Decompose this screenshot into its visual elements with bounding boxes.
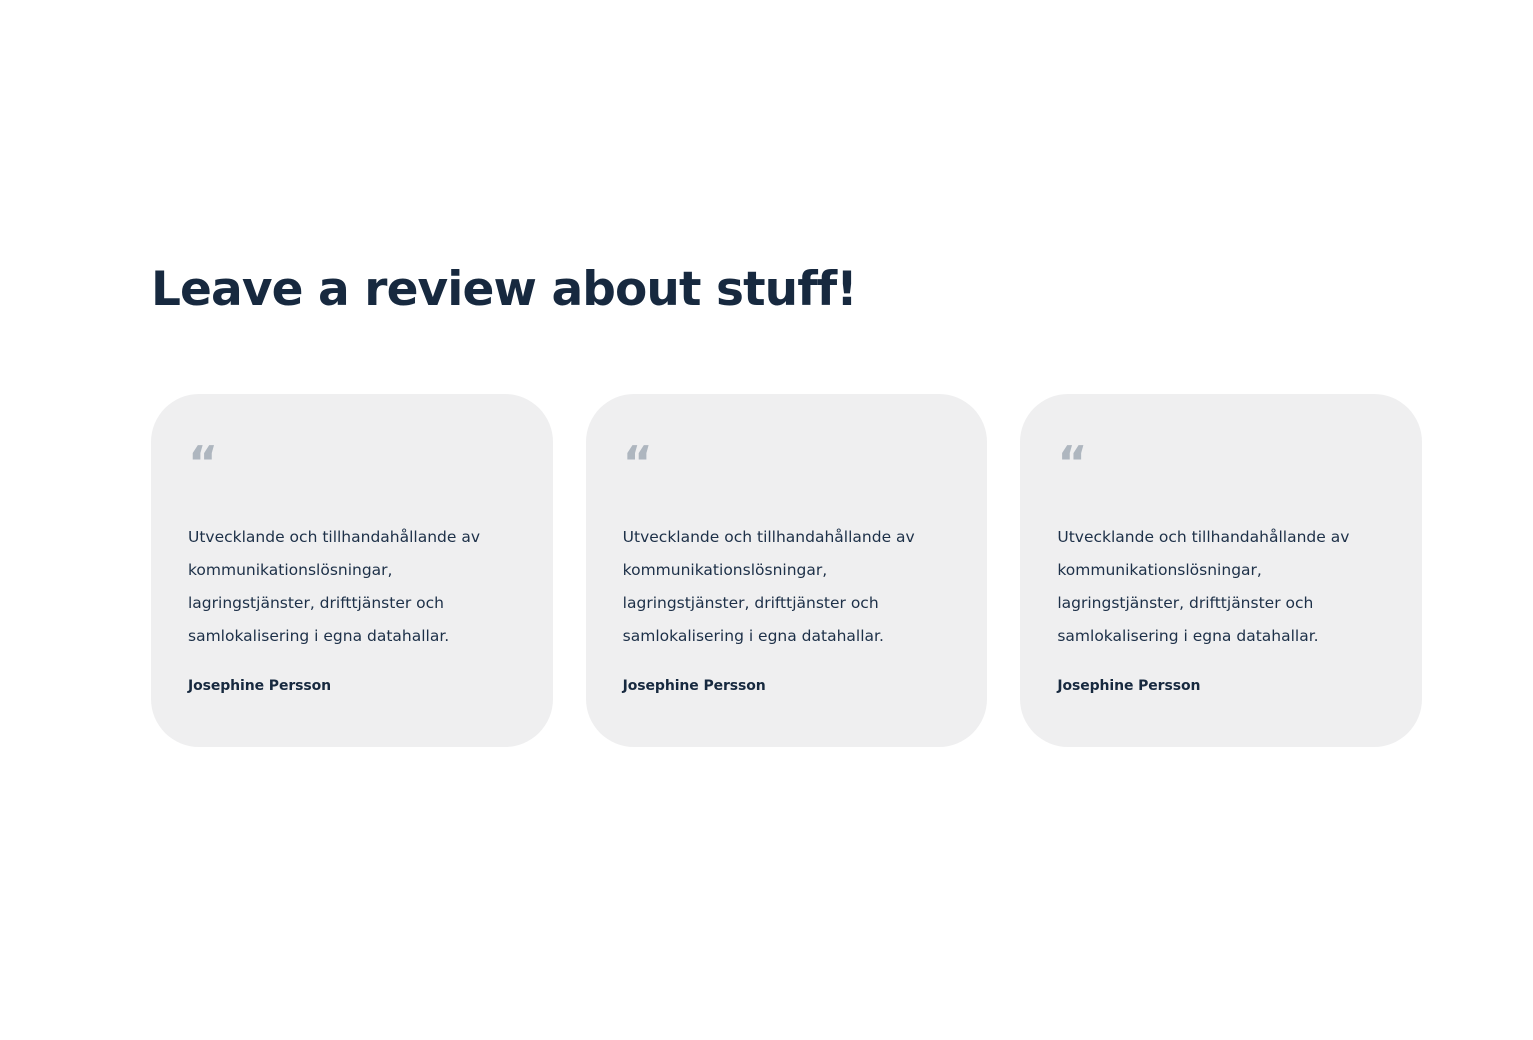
quote-icon: “ xyxy=(188,448,517,478)
review-author-name: Josephine Persson xyxy=(623,676,952,696)
review-section-page: Leave a review about stuff! “ Utveckland… xyxy=(0,0,1533,1040)
quote-icon: “ xyxy=(623,448,952,478)
review-card-list: “ Utvecklande och tillhandahållande av k… xyxy=(151,394,1422,747)
review-body-text: Utvecklande och tillhandahållande av kom… xyxy=(1057,521,1377,653)
review-body-text: Utvecklande och tillhandahållande av kom… xyxy=(623,521,943,653)
review-author-name: Josephine Persson xyxy=(1057,676,1386,696)
review-card: “ Utvecklande och tillhandahållande av k… xyxy=(151,394,553,747)
review-body-text: Utvecklande och tillhandahållande av kom… xyxy=(188,521,508,653)
review-card: “ Utvecklande och tillhandahållande av k… xyxy=(586,394,988,747)
review-author-name: Josephine Persson xyxy=(188,676,517,696)
review-card: “ Utvecklande och tillhandahållande av k… xyxy=(1020,394,1422,747)
section-header: Leave a review about stuff! xyxy=(151,262,1422,318)
page-title: Leave a review about stuff! xyxy=(151,262,1422,318)
quote-icon: “ xyxy=(1057,448,1386,478)
